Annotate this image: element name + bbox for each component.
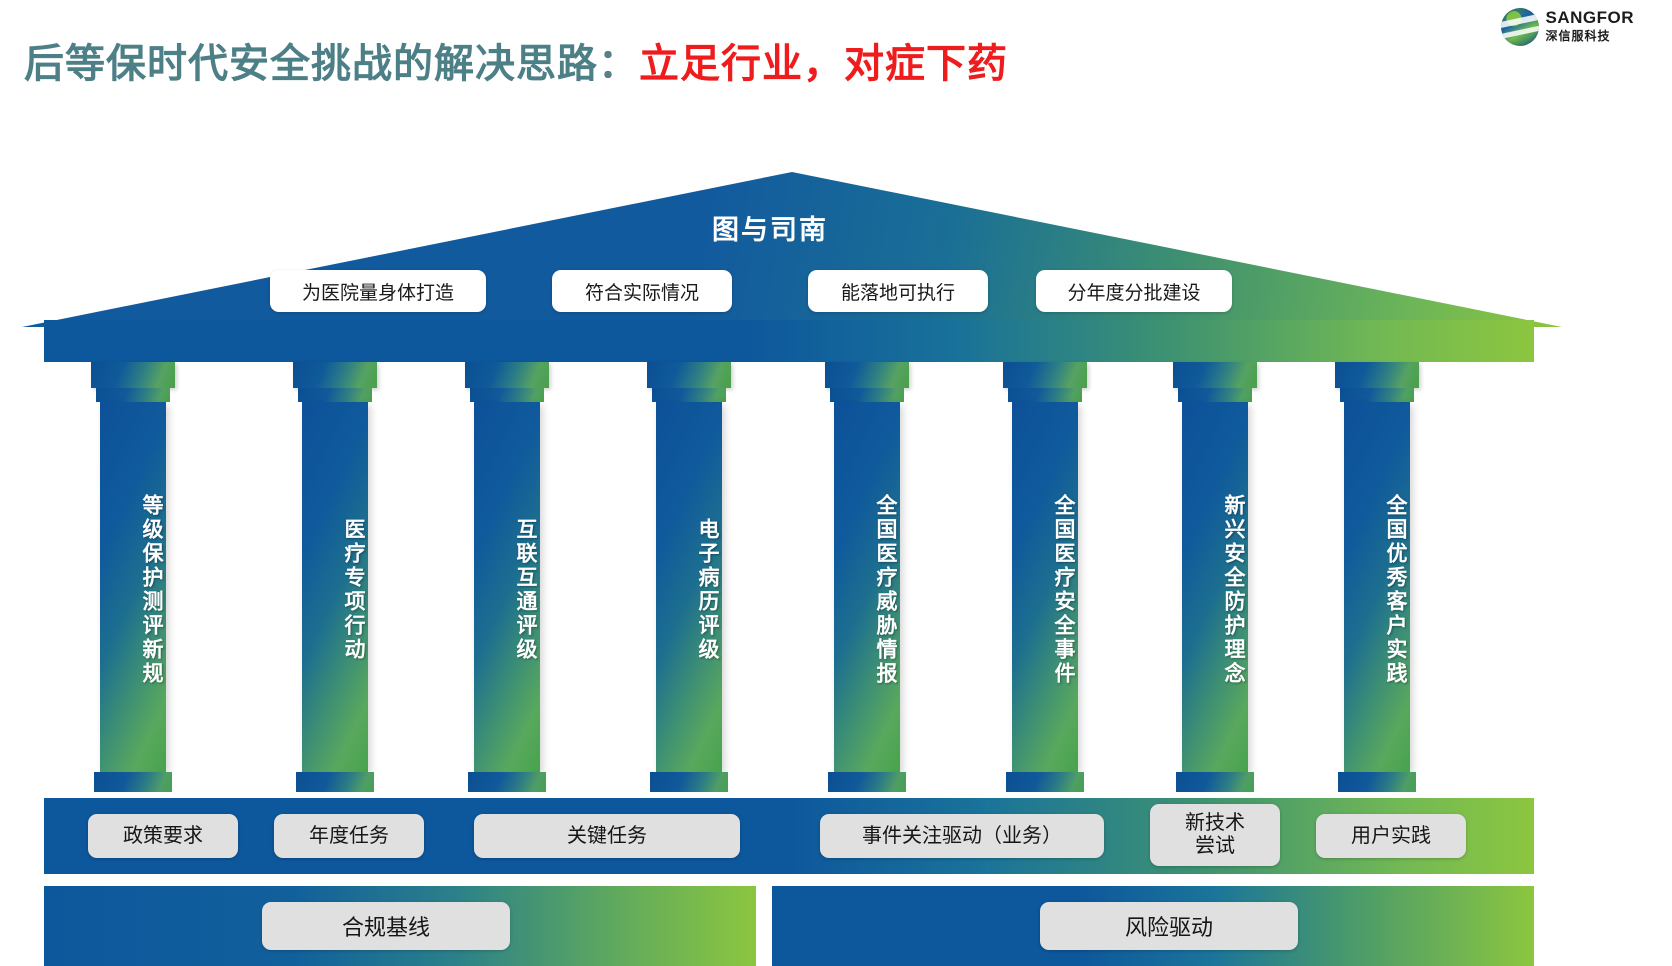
brand-logo: SANGFOR 深信服科技 [1501,8,1635,46]
pillar-label: 全国医疗威胁情报 [834,402,900,772]
pediment-chip[interactable]: 为医院量身体打造 [270,270,486,312]
pillar-capital [825,362,909,388]
pillar-capital-inner [1340,388,1414,402]
pillar-capital-inner [830,388,904,402]
foundation-chip[interactable]: 风险驱动 [1040,902,1298,950]
temple-diagram: 图与司南 为医院量身体打造符合实际情况能落地可执行分年度分批建设 等级保护测评新… [0,150,1672,916]
pillar[interactable]: 全国优秀客户实践 [1344,362,1410,792]
pillar[interactable]: 电子病历评级 [656,362,722,792]
foundation-plinth-left: 合规基线 [44,886,756,966]
stylobate-bar: 政策要求年度任务关键任务事件关注驱动（业务）新技术 尝试用户实践 [44,798,1534,874]
pillar-capital [465,362,549,388]
pillar-base [468,772,546,792]
pillar-label: 全国优秀客户实践 [1344,402,1410,772]
pediment-chip[interactable]: 能落地可执行 [808,270,988,312]
pillar-base [94,772,172,792]
pillar-capital [1173,362,1257,388]
pillar-capital [647,362,731,388]
driver-chip[interactable]: 关键任务 [474,814,740,858]
pillar-capital-inner [96,388,170,402]
globe-icon [1501,8,1539,46]
pillar-capital-inner [470,388,544,402]
pediment-chip[interactable]: 分年度分批建设 [1036,270,1232,312]
colonnade: 等级保护测评新规医疗专项行动互联互通评级电子病历评级全国医疗威胁情报全国医疗安全… [44,362,1534,792]
pillar-base [1338,772,1416,792]
pillar[interactable]: 等级保护测评新规 [100,362,166,792]
pillar-label: 全国医疗安全事件 [1012,402,1078,772]
page-title-segment-highlight: 立足行业，对症下药 [639,42,1008,86]
pediment-title: 图与司南 [0,208,1540,247]
pillar-base [296,772,374,792]
pediment-chip-group: 为医院量身体打造符合实际情况能落地可执行分年度分批建设 [22,270,1562,320]
pillar-label: 电子病历评级 [656,402,722,772]
architrave-bar [44,320,1534,362]
pillar-base [1176,772,1254,792]
pillar-base [650,772,728,792]
pillar-capital-inner [298,388,372,402]
foundation-plinth-right: 风险驱动 [772,886,1534,966]
driver-chip[interactable]: 事件关注驱动（业务） [820,814,1104,858]
pillar[interactable]: 全国医疗威胁情报 [834,362,900,792]
pillar-label: 等级保护测评新规 [100,402,166,772]
pillar[interactable]: 互联互通评级 [474,362,540,792]
brand-logo-text: SANGFOR 深信服科技 [1546,9,1635,45]
pillar-capital-inner [652,388,726,402]
driver-chip[interactable]: 用户实践 [1316,814,1466,858]
driver-chip[interactable]: 新技术 尝试 [1150,804,1280,866]
foundation-chip[interactable]: 合规基线 [262,902,510,950]
pillar-base [828,772,906,792]
driver-chip[interactable]: 政策要求 [88,814,238,858]
pillar-capital [91,362,175,388]
pillar[interactable]: 医疗专项行动 [302,362,368,792]
brand-name-cn: 深信服科技 [1546,29,1611,43]
pillar-label: 医疗专项行动 [302,402,368,772]
pillar-capital [1003,362,1087,388]
pillar-label: 互联互通评级 [474,402,540,772]
page-title-segment-primary: 后等保时代安全挑战的解决思路 [24,42,598,86]
page-title-separator: ： [598,42,639,86]
pillar-capital-inner [1178,388,1252,402]
page-title: 后等保时代安全挑战的解决思路：立足行业，对症下药 [24,44,1008,84]
pillar-capital [293,362,377,388]
brand-name-en: SANGFOR [1546,8,1635,27]
pillar-label: 新兴安全防护理念 [1182,402,1248,772]
pillar-capital [1335,362,1419,388]
pediment-chip[interactable]: 符合实际情况 [552,270,732,312]
pillar[interactable]: 全国医疗安全事件 [1012,362,1078,792]
pillar-capital-inner [1008,388,1082,402]
pillar-base [1006,772,1084,792]
driver-chip[interactable]: 年度任务 [274,814,424,858]
pillar[interactable]: 新兴安全防护理念 [1182,362,1248,792]
